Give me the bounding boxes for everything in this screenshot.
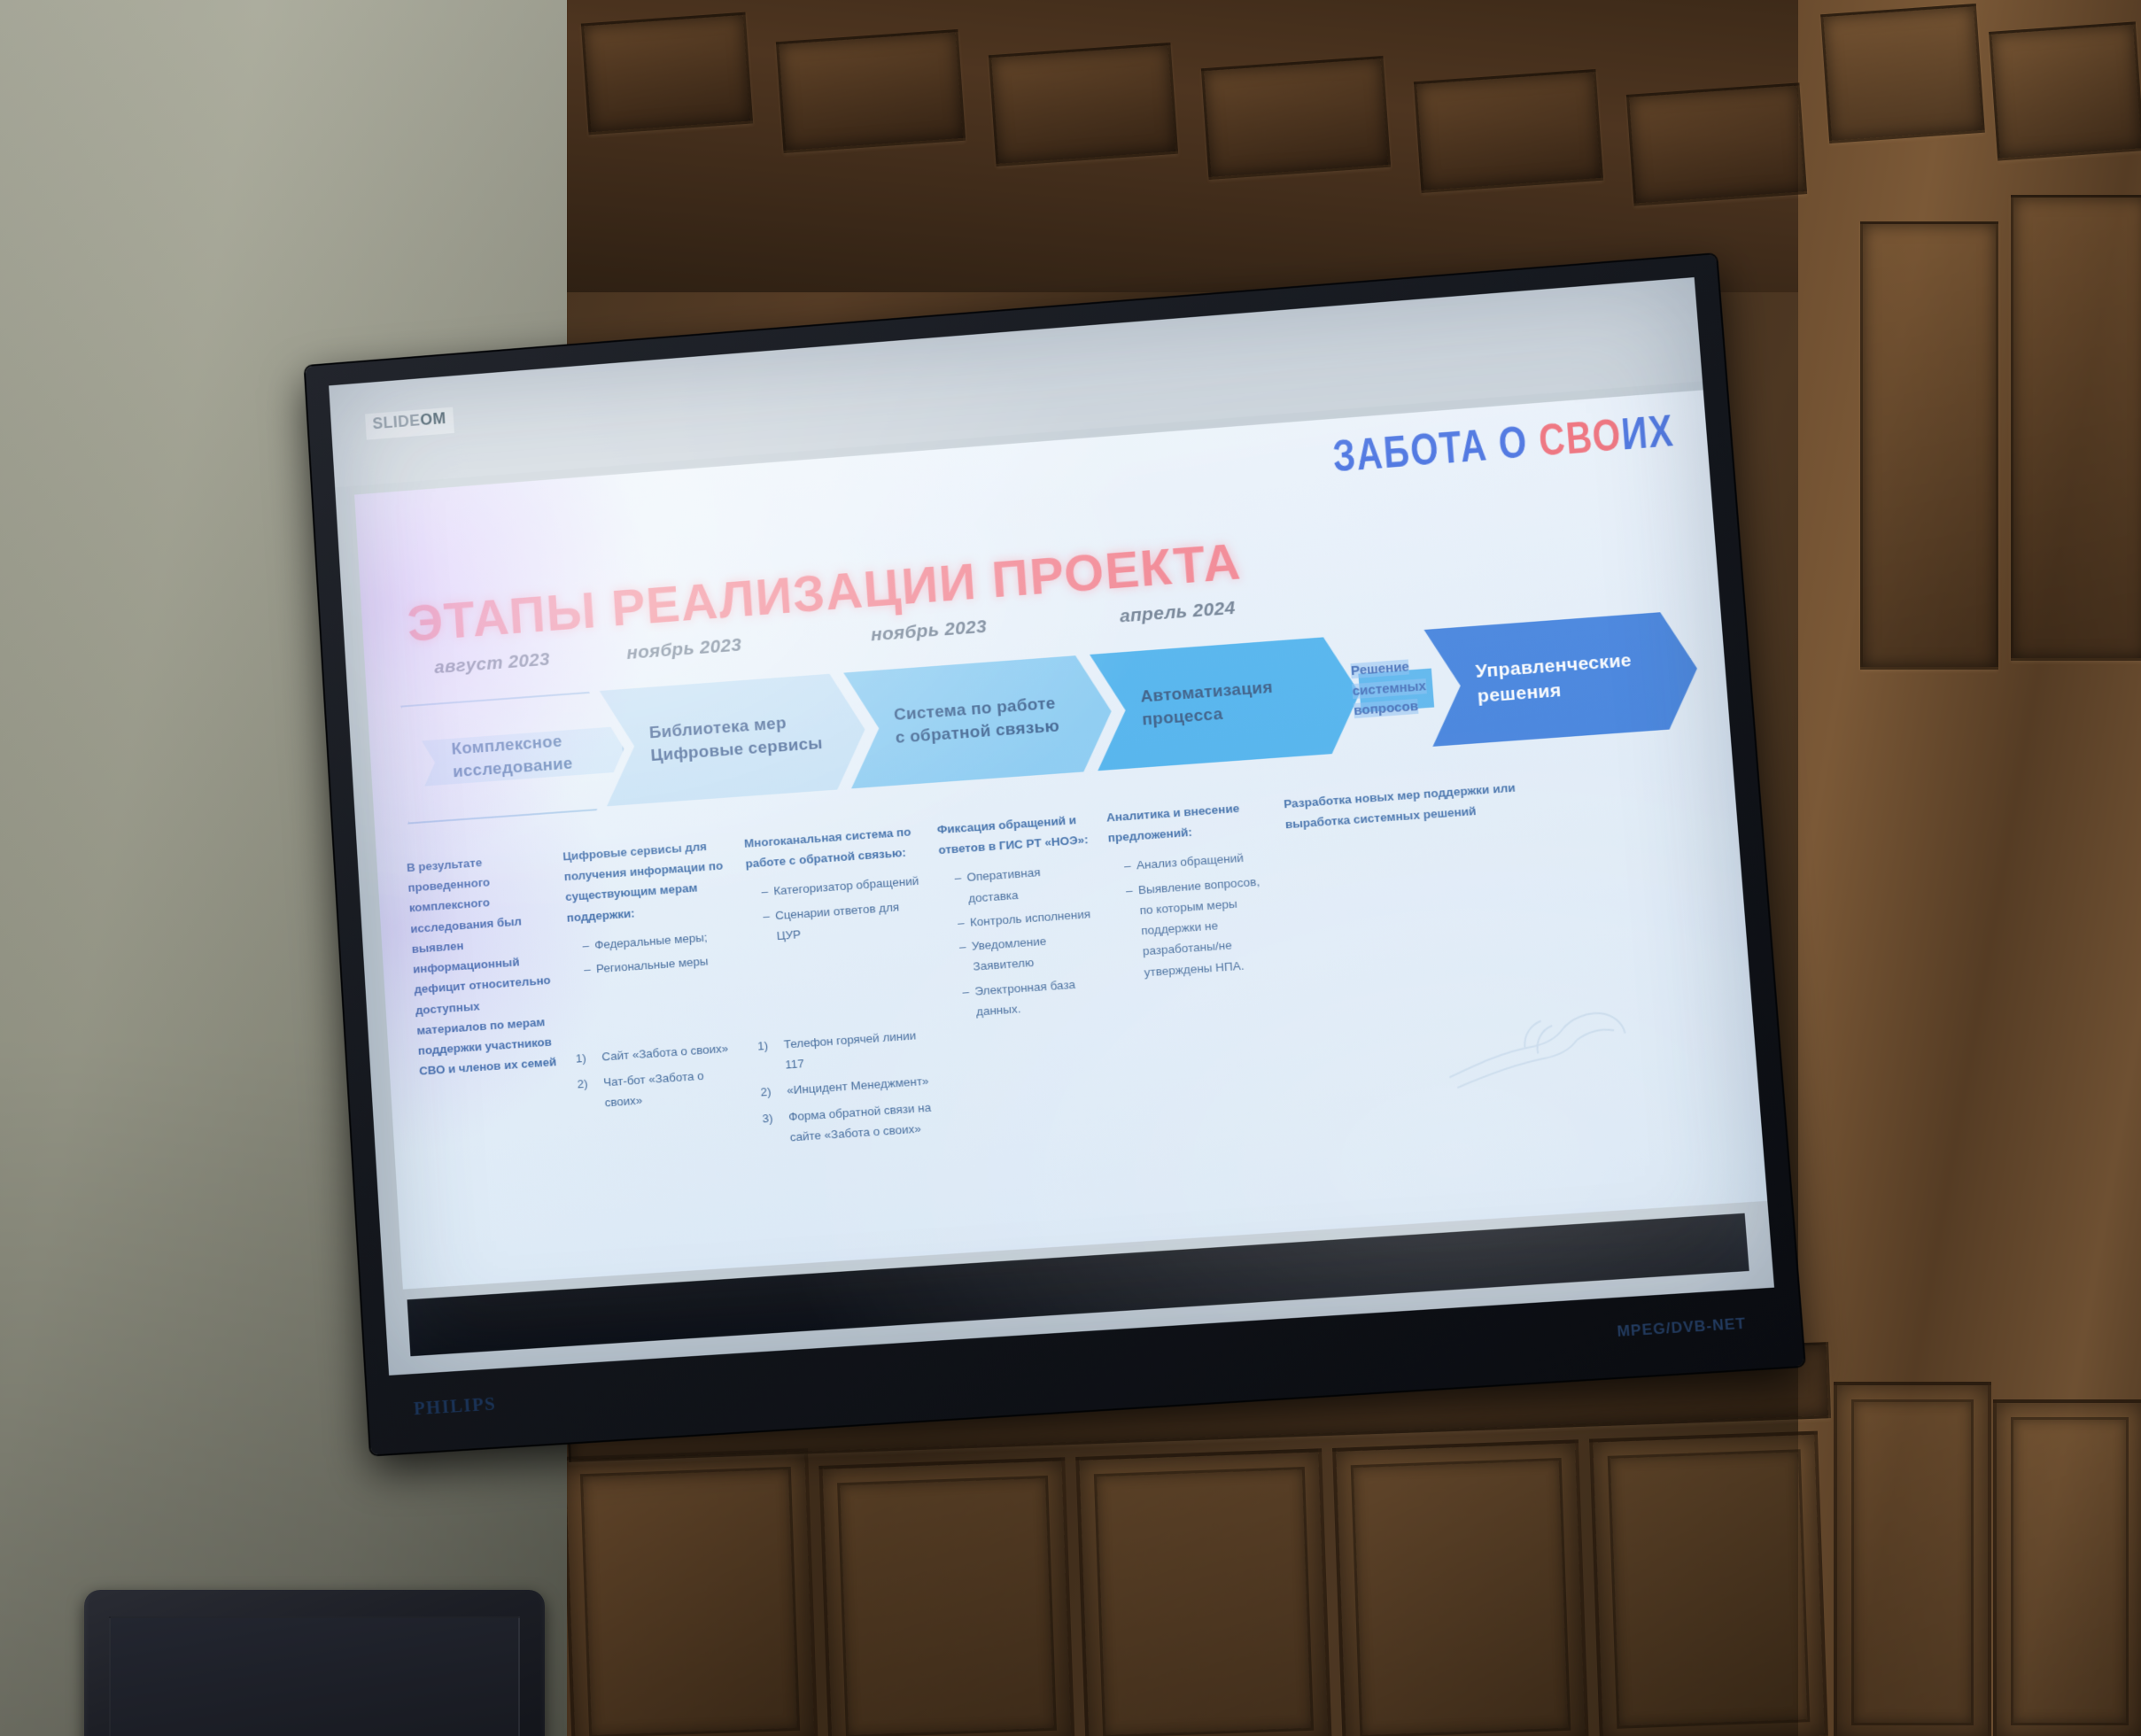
- description-column-4: Аналитика и внесение предложений: Анализ…: [1105, 796, 1278, 1007]
- slide-title: ЭТАПЫ РЕАЛИЗАЦИИ ПРОЕКТА: [406, 532, 1244, 654]
- cabinet-door[interactable]: [818, 1457, 1074, 1736]
- timeline-stage-2-label: Система по работе с обратной связью: [846, 692, 1076, 754]
- carved-panel: [1989, 21, 2141, 160]
- timeline-stage-4[interactable]: Управленческие решения: [1423, 610, 1702, 747]
- hands-illustration-icon: [1432, 957, 1650, 1113]
- carved-panel: [1820, 4, 1985, 143]
- timeline-stage-3[interactable]: Автоматизация процесса: [1090, 635, 1364, 771]
- list-item: Сценарии ответов для ЦУР: [763, 895, 924, 947]
- wall-mounted-tv: SLIDEOM ЗАБОТА О СВОИХ ЭТАПЫ РЕАЛИЗАЦИИ …: [306, 254, 1804, 1454]
- description-column-0: В результате проведенного комплексного и…: [406, 848, 557, 1090]
- brand-logo-zabota-o-svoih: ЗАБОТА О СВОИХ: [1331, 407, 1676, 484]
- brand-part-2: СВО: [1537, 411, 1623, 466]
- app-logo: SLIDEOM: [365, 407, 454, 440]
- timeline-stage-0-label: Комплексное исследование: [404, 726, 624, 787]
- list-item: Чат-бот «Забота о своих»: [577, 1063, 742, 1115]
- carved-panel-tall: [1860, 221, 1998, 670]
- description-column-4-bullets: Анализ обращений Выявление вопросов, по …: [1109, 846, 1276, 984]
- timeline-stage-3-label: Автоматизация процесса: [1092, 676, 1292, 735]
- description-column-3-head: Фиксация обращений и ответов в ГИС РТ «Н…: [936, 809, 1089, 860]
- description-column-5-head: Разработка новых мер поддержки или выраб…: [1283, 776, 1554, 836]
- description-column-2-head: Многоканальная система по работе с обрат…: [743, 821, 918, 874]
- connector-line-1: Решение: [1350, 659, 1409, 678]
- connector-line-3: вопросов: [1354, 699, 1419, 718]
- cabinet-door[interactable]: [1834, 1382, 1991, 1736]
- cabinet-door[interactable]: [562, 1448, 818, 1736]
- list-item: Уведомление Заявителю: [958, 927, 1098, 978]
- cabinet-door[interactable]: [1589, 1431, 1828, 1736]
- timeline-stage-0[interactable]: Комплексное исследование: [400, 689, 628, 824]
- carved-panel-tall: [2011, 195, 2141, 661]
- presentation-app: SLIDEOM ЗАБОТА О СВОИХ ЭТАПЫ РЕАЛИЗАЦИИ …: [329, 277, 1774, 1376]
- description-column-1-head: Цифровые сервисы для получения информаци…: [562, 835, 730, 928]
- list-item: Электронная база данных.: [962, 973, 1101, 1023]
- tv-screen[interactable]: SLIDEOM ЗАБОТА О СВОИХ ЭТАПЫ РЕАЛИЗАЦИИ …: [329, 277, 1774, 1376]
- timeline-connector-label: Решение системных вопросов: [1350, 655, 1453, 722]
- timeline-stage-1[interactable]: Библиотека мер Цифровые сервисы: [600, 671, 869, 806]
- description-column-3-bullets: Оперативная доставка Контроль исполнения…: [940, 859, 1101, 1024]
- app-logo-prefix: SLIDE: [372, 412, 421, 433]
- timeline-date-2: ноябрь 2023: [870, 616, 987, 647]
- description-column-1-bullets: Федеральные меры; Региональные меры: [568, 926, 733, 981]
- description-column-5: Разработка новых мер поддержки или выраб…: [1283, 776, 1555, 845]
- cabinet-door[interactable]: [1993, 1399, 2141, 1736]
- timeline-stage-1-label: Библиотека мер Цифровые сервисы: [601, 709, 839, 771]
- loudspeaker: [84, 1590, 545, 1736]
- list-item: Выявление вопросов, по которым меры подд…: [1125, 871, 1276, 984]
- carved-panel: [1414, 69, 1603, 193]
- cabinet-door[interactable]: [1075, 1448, 1332, 1736]
- timeline-stage-2[interactable]: Система по работе с обратной связью: [843, 654, 1115, 789]
- carved-panel: [1201, 56, 1391, 180]
- room-scene: SLIDEOM ЗАБОТА О СВОИХ ЭТАПЫ РЕАЛИЗАЦИИ …: [0, 0, 2141, 1736]
- description-column-1-numbered: Сайт «Забота о своих» Чат-бот «Забота о …: [575, 1037, 742, 1120]
- carved-panel: [776, 29, 966, 153]
- description-column-3: Фиксация обращений и ответов в ГИС РТ «Н…: [936, 809, 1102, 1046]
- timeline-date-0: август 2023: [434, 649, 551, 678]
- carved-panel: [1626, 82, 1807, 205]
- list-item: Телефон горячей линии 117: [756, 1024, 932, 1077]
- list-item: Форма обратной связи на сайте «Забота о …: [762, 1097, 937, 1150]
- description-column-1: Цифровые сервисы для получения информаци…: [562, 835, 735, 1004]
- timeline-date-1: ноябрь 2023: [626, 635, 742, 664]
- brand-part-1: ЗАБОТА О: [1331, 417, 1541, 482]
- loudspeaker-grille: [109, 1616, 520, 1736]
- timeline-date-3: апрель 2024: [1119, 598, 1236, 628]
- carved-panel: [581, 12, 753, 136]
- slide-canvas: ЗАБОТА О СВОИХ ЭТАПЫ РЕАЛИЗАЦИИ ПРОЕКТА …: [354, 390, 1767, 1289]
- connector-line-2: системных: [1352, 678, 1426, 699]
- app-logo-suffix: OM: [420, 409, 446, 429]
- description-column-4-head: Аналитика и внесение предложений:: [1105, 796, 1267, 849]
- cabinet-door[interactable]: [1332, 1439, 1589, 1736]
- description-column-0-head: В результате проведенного комплексного и…: [406, 848, 557, 1081]
- list-item: Оперативная доставка: [954, 859, 1093, 910]
- description-column-2-bullets: Категоризатор обращений Сценарии ответов…: [747, 871, 923, 948]
- description-column-2-numbered: Телефон горячей линии 117 «Инцидент Мене…: [756, 1024, 937, 1154]
- carved-panel: [989, 43, 1178, 167]
- brand-part-3: ИХ: [1620, 407, 1676, 460]
- description-column-2: Многоканальная система по работе с обрат…: [743, 821, 925, 971]
- timeline-stage-4-label: Управленческие решения: [1426, 647, 1650, 713]
